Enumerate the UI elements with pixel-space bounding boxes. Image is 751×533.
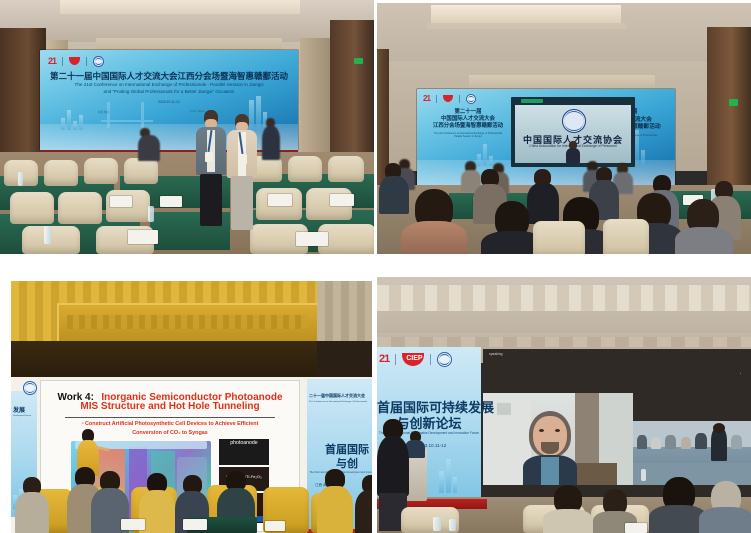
person-bending <box>138 128 160 164</box>
caiep-globe-icon <box>93 56 104 67</box>
photo-top-right[interactable]: 21 第二十一届 中国国际人才交流大会 江西分会场暨海智惠赣鄱活动 The 21… <box>377 3 751 254</box>
caiep-globe-icon <box>437 352 452 367</box>
photo-collage: 21 第二十一届中国国际人才交流大会江西分会场暨海智惠赣鄱活动 The 21st… <box>0 0 751 533</box>
table-name-card <box>625 523 647 533</box>
ciep-swoosh-icon <box>69 57 80 65</box>
video-wall: speaking • <box>483 349 751 497</box>
photo-bottom-right[interactable]: speaking • <box>377 277 751 533</box>
ciep-swoosh-icon <box>443 95 453 102</box>
table-name-card <box>128 230 158 244</box>
attendee-left <box>196 110 226 230</box>
photo-bottom-left[interactable]: 二十一届中国国际人才交流大会 21st Conference on Intern… <box>11 281 372 533</box>
attendee-right <box>227 114 257 232</box>
panel-label-photoanode: photoanode <box>219 440 269 446</box>
room-live-feed <box>633 421 751 485</box>
table-name-card <box>330 194 354 206</box>
screen-date: 2023.10.11-12 <box>40 100 298 104</box>
conference-badge <box>239 154 247 164</box>
caiep-globe-icon <box>23 381 37 395</box>
screen-title-en-1: The 21st Conference on International Exc… <box>40 82 298 87</box>
side-banner-line2: 21st Conference on International Exchang… <box>309 401 372 404</box>
screen-title-en-2: and "Pooling Global Professionals for a … <box>40 89 298 94</box>
photo-top-left[interactable]: 21 第二十一届中国国际人才交流大会江西分会场暨海智惠赣鄱活动 The 21st… <box>0 0 374 254</box>
banner-logo-row: 21 CIEP <box>379 353 452 365</box>
table-name-card <box>265 521 285 531</box>
table-name-card <box>110 196 132 207</box>
table-name-card <box>296 232 328 246</box>
table-name-card <box>160 196 182 207</box>
video-wall-corner-label: speaking <box>489 352 503 356</box>
stage-led-screen: 21 第二十一届中国国际人才交流大会江西分会场暨海智惠赣鄱活动 The 21st… <box>40 50 298 150</box>
conference-badge <box>205 152 213 162</box>
slide-inset-panel-top: photoanode <box>219 439 269 465</box>
table-name-card <box>183 519 207 530</box>
caiep-globe-icon <box>466 94 476 104</box>
led-left-title: 第二十一届 中国国际人才交流大会 江西分会场暨海智惠赣鄱活动 <box>425 109 511 130</box>
screen-title-cn: 第二十一届中国国际人才交流大会江西分会场暨海智惠赣鄱活动 <box>40 70 298 82</box>
table-name-card <box>268 194 292 206</box>
logo-21: 21 <box>48 56 56 66</box>
remote-speaker <box>523 411 577 485</box>
caiep-globe-icon <box>562 109 586 133</box>
slide-title-line2: MIS Structure and Hot Hole Tunneling <box>41 401 299 412</box>
person-standing-right <box>262 118 280 162</box>
remote-speaker-feed <box>483 393 633 485</box>
table-name-card <box>121 519 145 530</box>
slide-bullet-line1: ▫ Construct Artificial Photosynthetic Ce… <box>41 421 299 427</box>
ciep-swoosh-icon: CIEP <box>402 353 424 366</box>
screen-host-info: 时间 地点 <box>98 110 109 114</box>
side-banner-line1: 二十一届中国国际人才交流大会 <box>309 393 372 399</box>
logo-21: 21 <box>379 353 389 365</box>
logo-21: 21 <box>423 94 430 103</box>
